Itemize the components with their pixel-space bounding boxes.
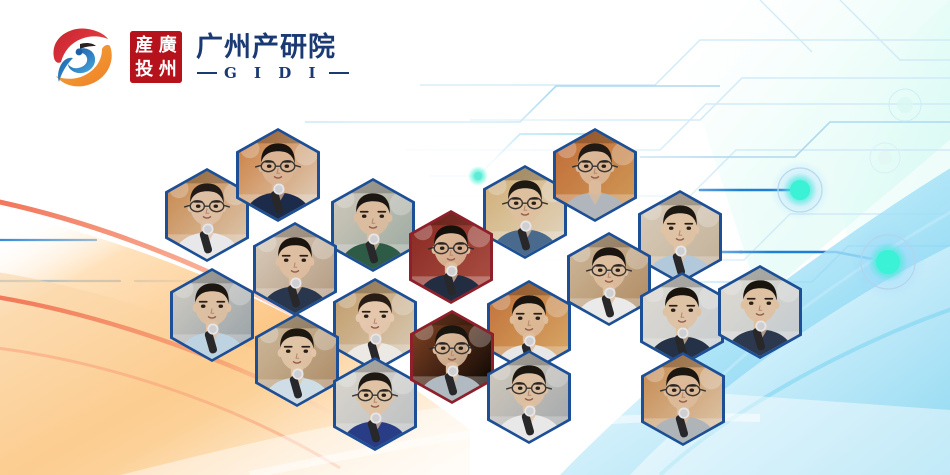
hexagon-portrait-tile[interactable] <box>410 310 494 404</box>
portrait-photo <box>556 131 634 219</box>
hexagon-photo-clip <box>413 313 491 401</box>
hexagon-photo-clip <box>258 316 336 404</box>
hexagon-portrait-tile[interactable] <box>170 268 254 362</box>
hexagon-photo-clip <box>239 131 317 219</box>
portrait-photo <box>412 213 490 301</box>
portrait-photo <box>644 355 722 443</box>
hexagon-portrait-tile[interactable] <box>640 272 724 366</box>
hexagon-photo-clip <box>556 131 634 219</box>
hexagon-portrait-tile[interactable] <box>718 265 802 359</box>
hexagon-portrait-tile[interactable] <box>641 352 725 446</box>
hexagon-portrait-tile[interactable] <box>253 222 337 316</box>
seal-char-3: 投 <box>133 58 156 81</box>
hexagon-photo-clip <box>644 355 722 443</box>
brand-name-cn: 广州产研院 <box>196 33 349 63</box>
hexagon-photo-clip <box>168 171 246 259</box>
portrait-photo <box>256 225 334 313</box>
seal-char-1: 産 <box>133 34 156 57</box>
portrait-photo <box>486 168 564 256</box>
hexagon-photo-clip <box>570 235 648 323</box>
brand-wordmark: 广州产研院 G I D I <box>194 33 349 82</box>
hexagon-photo-clip <box>412 213 490 301</box>
portrait-photo <box>258 316 336 404</box>
portrait-photo <box>413 313 491 401</box>
portrait-photo <box>570 235 648 323</box>
hexagon-photo-clip <box>486 168 564 256</box>
wordmark-rule-left <box>197 72 217 74</box>
hexagon-portrait-tile[interactable] <box>409 210 493 304</box>
portrait-photo <box>334 181 412 269</box>
seal-char-2: 廣 <box>157 34 180 57</box>
company-seal-icon: 産 廣 投 州 <box>130 31 182 83</box>
portrait-photo <box>490 353 568 441</box>
portrait-photo <box>336 360 414 448</box>
hexagon-photo-clip <box>336 281 414 369</box>
hexagon-portrait-tile[interactable] <box>331 178 415 272</box>
hexagon-photo-clip <box>173 271 251 359</box>
portrait-photo <box>643 275 721 363</box>
hexagon-portrait-tile[interactable] <box>255 313 339 407</box>
hexagon-photo-clip <box>721 268 799 356</box>
hexagon-photo-clip <box>643 275 721 363</box>
portrait-photo <box>641 193 719 281</box>
brand-name-en: G I D I <box>224 65 322 82</box>
brand-logo-block: 産 廣 投 州 广州产研院 G I D I <box>44 22 349 92</box>
wordmark-rule-right <box>329 72 349 74</box>
poster-canvas: 産 廣 投 州 广州产研院 G I D I <box>0 0 950 475</box>
hexagon-photo-clip <box>490 353 568 441</box>
portrait-photo <box>336 281 414 369</box>
gidi-swirl-logo-icon <box>44 22 118 92</box>
hexagon-photo-clip <box>334 181 412 269</box>
hexagon-photo-clip <box>256 225 334 313</box>
seal-char-4: 州 <box>157 58 180 81</box>
hexagon-photo-clip <box>641 193 719 281</box>
hexagon-portrait-tile[interactable] <box>333 357 417 451</box>
portrait-photo <box>721 268 799 356</box>
hexagon-portrait-tile[interactable] <box>487 350 571 444</box>
portrait-photo <box>168 171 246 259</box>
hexagon-photo-clip <box>336 360 414 448</box>
portrait-photo <box>173 271 251 359</box>
portrait-photo <box>239 131 317 219</box>
brand-name-en-row: G I D I <box>196 65 349 82</box>
